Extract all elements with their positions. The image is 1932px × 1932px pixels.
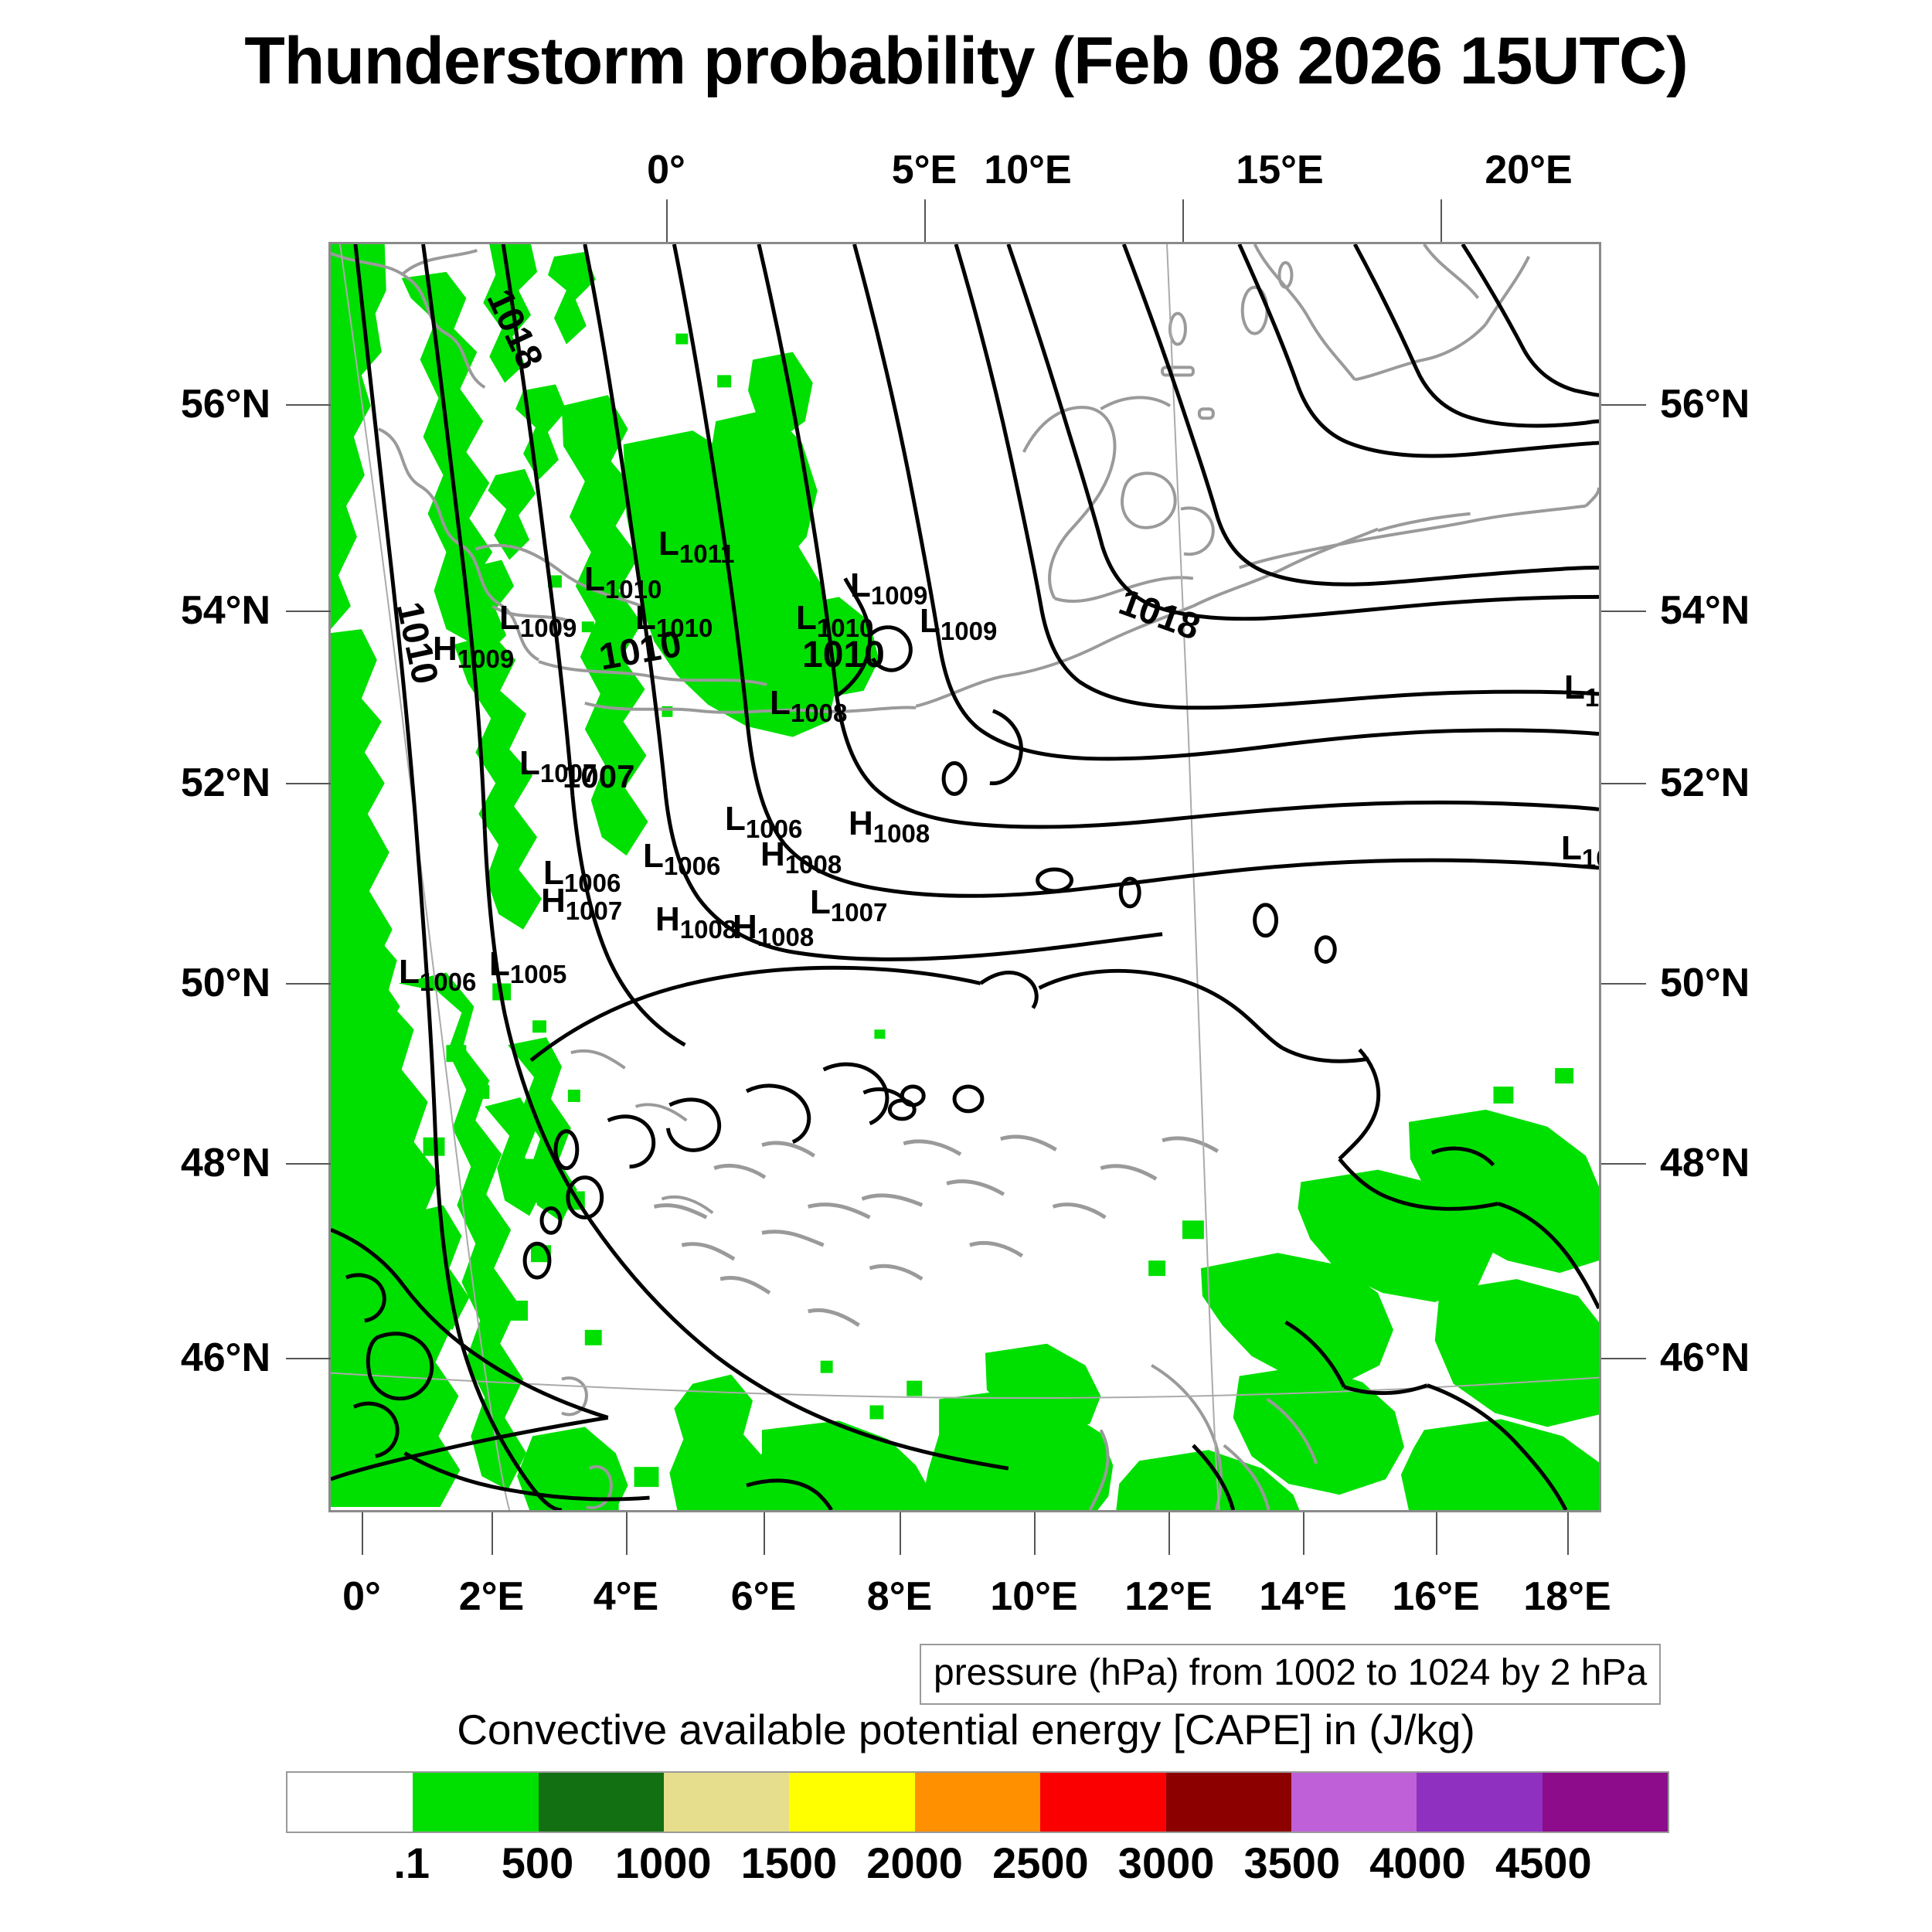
colorbar-tick-4: 2000 [866,1838,963,1888]
colorbar-tick-2: 1000 [615,1838,712,1888]
tick-bottom-0 [362,1512,363,1555]
axis-label-right-46: 46°N [1660,1335,1750,1381]
pressure-center-l-1005: L1005 [489,947,566,987]
axis-label-bottom-0: 0° [342,1573,381,1620]
axis-label-top-5: 5°E [892,147,957,193]
tick-right-56 [1601,404,1646,406]
tick-left-48 [286,1163,331,1165]
map-canvas [331,244,1599,1510]
axis-label-left-52: 52°N [108,760,270,806]
axis-label-bottom-18: 18°E [1523,1573,1611,1620]
axis-label-bottom-4: 4°E [594,1573,658,1620]
pressure-center-h-1008-b: H1008 [760,838,842,877]
tick-right-50 [1601,983,1646,985]
axis-label-right-56: 56°N [1660,381,1750,427]
pressure-center-l-1009-c: L1009 [920,604,997,644]
axis-label-bottom-2: 2°E [459,1573,524,1620]
axis-label-top-15: 15°E [1236,147,1323,193]
colorbar-tick-0: .1 [393,1838,430,1888]
colorbar-band-10[interactable] [1543,1773,1668,1832]
colorbar-tick-labels: .1 500 1000 1500 2000 2500 3000 3500 400… [286,1838,1669,1892]
pressure-center-h-1009: H1009 [433,632,514,672]
axis-label-left-56: 56°N [108,381,270,427]
pressure-center-l-100-clipped: L100 [1561,832,1601,871]
colorbar-tick-1: 500 [502,1838,573,1888]
axis-label-left-54: 54°N [108,587,270,634]
colorbar-title: Convective available potential energy [C… [0,1705,1932,1754]
pressure-center-h-1008-a: H1008 [849,807,930,846]
colorbar-tick-5: 2500 [992,1838,1089,1888]
tick-bottom-4 [626,1512,628,1555]
colorbar-band-8[interactable] [1291,1773,1417,1832]
colorbar-band-9[interactable] [1417,1773,1542,1832]
cape-colorbar[interactable] [286,1771,1669,1833]
cape-shading-layer [331,244,1599,1510]
tick-bottom-12 [1168,1512,1170,1555]
tick-right-48 [1601,1163,1646,1165]
tick-bottom-14 [1303,1512,1304,1555]
pressure-center-l-1009-b: L1009 [850,569,927,608]
axis-label-top-20: 20°E [1485,147,1572,193]
pressure-contour-caption: pressure (hPa) from 1002 to 1024 by 2 hP… [920,1644,1661,1705]
axis-label-top-10: 10°E [984,147,1071,193]
axis-label-bottom-16: 16°E [1392,1573,1479,1620]
pressure-center-l-1011: L1011 [658,527,734,566]
pressure-center-l-1006-b: L1006 [643,839,720,879]
pressure-center-l-1007-a: L1007 [519,747,597,786]
axis-label-right-54: 54°N [1660,587,1750,634]
tick-bottom-16 [1436,1512,1437,1555]
pressure-center-h-1008-d: H1008 [733,910,814,950]
colorbar-band-3[interactable] [664,1773,789,1832]
pressure-center-l-1008: L1008 [770,686,847,726]
tick-bottom-10 [1034,1512,1036,1555]
tick-left-56 [286,404,331,406]
tick-top-0 [666,199,668,242]
colorbar-tick-6: 3000 [1118,1838,1215,1888]
tick-bottom-8 [900,1512,901,1555]
axis-label-bottom-6: 6°E [731,1573,796,1620]
pressure-center-l-1006-d: L1006 [399,955,476,995]
tick-bottom-6 [764,1512,765,1555]
tick-right-54 [1601,611,1646,612]
colorbar-tick-8: 4000 [1369,1838,1466,1888]
tick-left-52 [286,783,331,784]
tick-left-50 [286,983,331,985]
tick-top-15 [1440,199,1442,242]
pressure-center-l-1007-b: L1007 [810,886,887,925]
axis-label-bottom-10: 10°E [990,1573,1077,1620]
colorbar-band-4[interactable] [789,1773,914,1832]
axis-label-left-46: 46°N [108,1335,270,1381]
axis-label-bottom-14: 14°E [1259,1573,1346,1620]
colorbar-tick-7: 3500 [1244,1838,1341,1888]
axis-label-right-52: 52°N [1660,760,1750,806]
tick-left-54 [286,611,331,612]
page-title: Thunderstorm probability (Feb 08 2026 15… [0,23,1932,100]
pressure-center-l-10-clipped: L10 [1564,671,1601,710]
pressure-center-l-1010-a: L1010 [584,563,662,602]
axis-label-bottom-12: 12°E [1124,1573,1212,1620]
axis-label-left-48: 48°N [108,1140,270,1186]
axis-label-right-50: 50°N [1660,960,1750,1006]
colorbar-band-6[interactable] [1040,1773,1165,1832]
colorbar-band-0[interactable] [287,1773,413,1832]
pressure-center-h-1008-c: H1008 [655,903,736,942]
tick-right-52 [1601,783,1646,784]
colorbar-band-5[interactable] [915,1773,1040,1832]
axis-label-bottom-8: 8°E [867,1573,932,1620]
colorbar-tick-3: 1500 [741,1838,838,1888]
axis-label-right-48: 48°N [1660,1140,1750,1186]
contour-label-1010-east: 1010 [802,637,885,674]
tick-right-46 [1601,1358,1646,1359]
pressure-center-l-1010-b: L1010 [635,601,713,641]
map-plot-area[interactable]: 1018 1010 1018 1010 1010 1007 L1011 L101… [328,242,1601,1512]
colorbar-band-7[interactable] [1166,1773,1291,1832]
colorbar-band-1[interactable] [413,1773,538,1832]
colorbar-tick-9: 4500 [1495,1838,1592,1888]
tick-top-5 [924,199,926,242]
tick-top-10 [1182,199,1184,242]
colorbar-band-2[interactable] [539,1773,664,1832]
axis-label-top-0: 0° [647,147,685,193]
tick-bottom-18 [1567,1512,1569,1555]
pressure-center-h-1007: H1007 [541,884,622,923]
tick-left-46 [286,1358,331,1359]
axis-label-left-50: 50°N [108,960,270,1006]
tick-bottom-2 [492,1512,493,1555]
